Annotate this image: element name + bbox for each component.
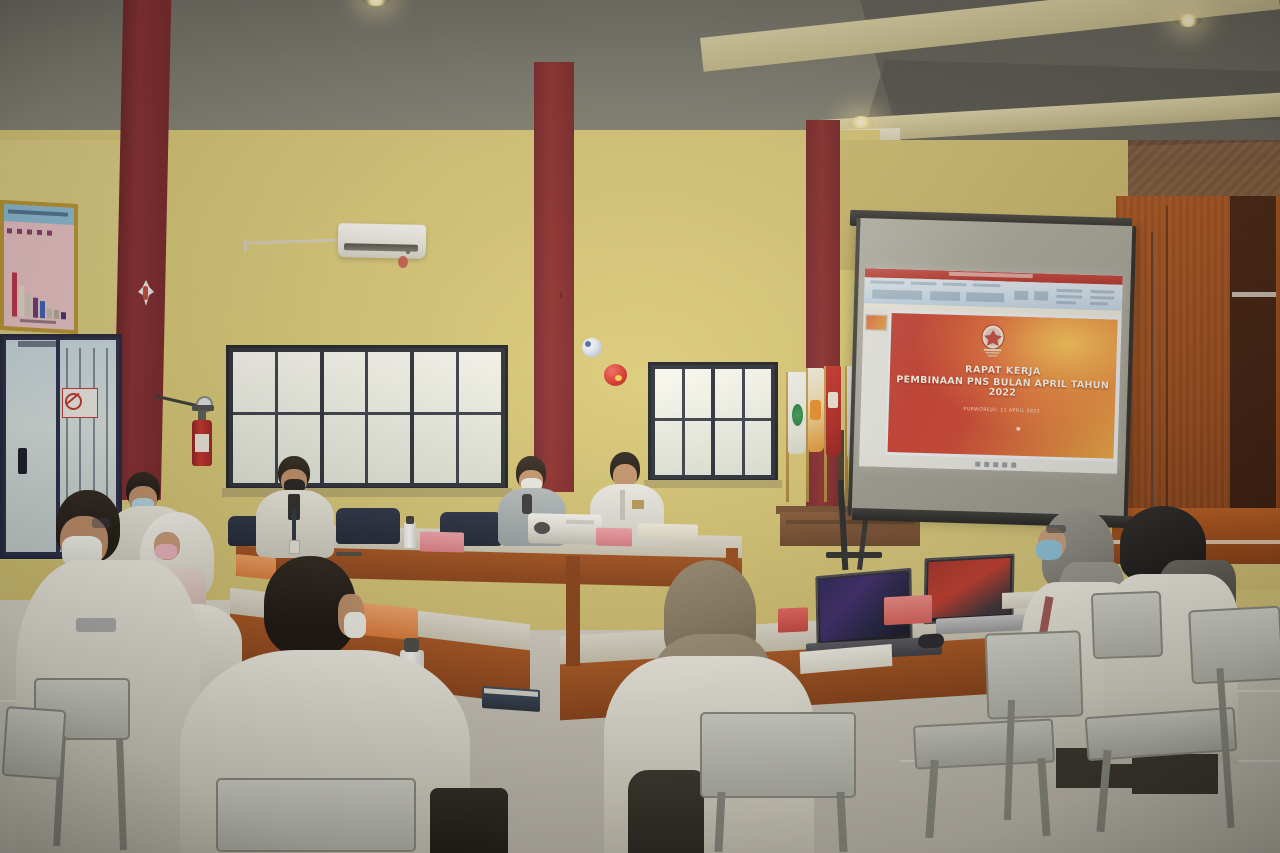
face-mask <box>1036 540 1062 560</box>
ribbon-tab[interactable] <box>911 282 937 286</box>
poster-bar <box>61 312 66 320</box>
slide-thumbnail[interactable] <box>865 314 887 331</box>
window-pane <box>324 352 411 483</box>
sunglasses <box>1046 525 1066 533</box>
fire-extinguisher-label <box>195 434 209 452</box>
poster-bar <box>47 308 52 318</box>
reading-view-icon[interactable] <box>993 462 998 467</box>
ribbon-gallery[interactable] <box>930 291 960 301</box>
sanitizer-pump <box>406 516 414 524</box>
ribbon-button[interactable] <box>1090 302 1108 306</box>
ceiling-downlight <box>1175 14 1201 27</box>
pendant-rod <box>1151 232 1153 512</box>
slideshow-icon[interactable] <box>1002 462 1007 467</box>
folding-chair-back[interactable] <box>700 712 856 798</box>
poster-bar <box>12 273 17 317</box>
wood-panel-seam <box>1166 206 1168 516</box>
ribbon-button[interactable] <box>1090 296 1114 300</box>
ribbon-tab[interactable] <box>871 280 905 284</box>
tissue-box <box>884 595 932 626</box>
air-conditioner-led-icon <box>406 250 410 254</box>
sorter-view-icon[interactable] <box>984 461 989 466</box>
slide-subtitle: PEMBINAAN PNS BULAN APRIL TAHUN 2022 <box>889 375 1115 401</box>
window-pane <box>655 369 711 475</box>
poster-bar <box>19 286 24 317</box>
legend-swatch <box>17 229 22 234</box>
computer-mouse[interactable] <box>918 633 944 648</box>
poster-bar <box>33 298 38 318</box>
slide-bullet-marker <box>1016 427 1020 431</box>
window-sill <box>222 488 512 497</box>
id-card <box>289 540 300 554</box>
ribbon-gallery[interactable] <box>966 292 1004 302</box>
tissue-box <box>596 528 632 547</box>
poster-bar <box>40 301 45 318</box>
trousers <box>1132 754 1218 794</box>
shirt-placket <box>620 490 625 520</box>
slide-date-line: PURWOREJO, 11 APRIL 2022 <box>889 405 1115 417</box>
folding-chair-back[interactable] <box>1188 606 1280 685</box>
window-left <box>226 345 508 490</box>
hand-sanitizer-bottle <box>404 522 416 548</box>
ribbon-button[interactable] <box>1014 291 1028 300</box>
folding-chair-back[interactable] <box>1091 591 1163 659</box>
window-pane <box>715 369 771 475</box>
ribbon-button[interactable] <box>1056 301 1076 305</box>
poster-bar <box>26 293 31 317</box>
wall-ornament-blue-detail <box>585 341 591 347</box>
folding-chair-back[interactable] <box>216 778 416 852</box>
flag-orange-emblem <box>810 400 821 420</box>
wall-seam <box>560 292 562 298</box>
cup-red <box>778 607 808 633</box>
legend-swatch <box>47 230 52 235</box>
projector-vent <box>566 520 594 525</box>
poster-bar <box>54 310 59 319</box>
tissue-box <box>236 554 276 580</box>
ribbon-tab[interactable] <box>973 283 1001 287</box>
ceiling-texture-panel <box>1118 140 1280 200</box>
powerpoint-window[interactable]: RAPAT KERJA PEMBINAAN PNS BULAN APRIL TA… <box>859 268 1123 474</box>
tissue-box <box>420 531 464 552</box>
pen <box>336 552 362 556</box>
legend-swatch <box>27 229 32 234</box>
laptop-right-display-content <box>928 558 1011 618</box>
screen-tripod-base <box>826 552 882 558</box>
folding-chair-back[interactable] <box>2 706 67 780</box>
lanyard <box>292 508 296 542</box>
legend-swatch <box>7 228 12 233</box>
projector-lens-icon <box>534 522 550 534</box>
wall-ornament-red-detail <box>615 375 622 381</box>
ribbon-button[interactable] <box>1090 290 1114 294</box>
flag-red <box>826 366 841 456</box>
bag <box>430 788 508 853</box>
zoom-slider-icon[interactable] <box>1011 462 1016 467</box>
powerpoint-thumbnail-pane[interactable] <box>859 309 890 467</box>
poster-bar-chart <box>12 250 70 319</box>
slide-canvas[interactable]: RAPAT KERJA PEMBINAAN PNS BULAN APRIL TA… <box>888 313 1118 459</box>
door-handle[interactable] <box>18 448 27 474</box>
eyeglasses <box>92 518 110 528</box>
paper-stack <box>638 523 698 540</box>
ceiling-downlight <box>848 116 874 128</box>
sanitizer-pump <box>404 638 419 652</box>
face-mask <box>344 612 366 638</box>
door-top-sign <box>18 341 58 347</box>
legend-swatch <box>37 230 42 235</box>
wood-panel-dark-strip <box>1230 196 1276 526</box>
flag-white-green-emblem <box>792 404 803 426</box>
ribbon-button[interactable] <box>1056 289 1082 293</box>
tissue-box <box>362 603 418 641</box>
microphone <box>522 494 532 514</box>
maroon-pillar-middle <box>534 62 574 492</box>
meeting-room-photo: RAPAT KERJA PEMBINAAN PNS BULAN APRIL TA… <box>0 0 1280 853</box>
ribbon-tab[interactable] <box>943 283 967 287</box>
folding-chair-back[interactable] <box>985 630 1084 719</box>
ac-decor-tag <box>398 256 408 268</box>
shoulder-bag <box>628 770 704 853</box>
wood-panel-light-strip <box>1232 292 1276 297</box>
office-chair[interactable] <box>336 508 400 544</box>
uniform-shoulder-patch <box>76 618 116 632</box>
flag-red-emblem <box>828 392 838 408</box>
window-right <box>648 362 778 482</box>
face-mask <box>155 544 177 559</box>
normal-view-icon[interactable] <box>975 461 980 466</box>
ribbon-button[interactable] <box>1056 295 1082 299</box>
window-pane <box>414 352 501 483</box>
uniform-badge <box>632 500 644 509</box>
kpu-garuda-emblem-icon <box>976 324 1009 359</box>
air-conditioner-unit <box>338 223 427 259</box>
window-sill <box>644 480 782 488</box>
ribbon-gallery[interactable] <box>872 289 922 299</box>
ribbon-button[interactable] <box>1034 291 1048 300</box>
table-leg <box>566 556 580 666</box>
maroon-pillar-right <box>806 120 840 540</box>
wall-ornament-white-core <box>143 286 148 300</box>
